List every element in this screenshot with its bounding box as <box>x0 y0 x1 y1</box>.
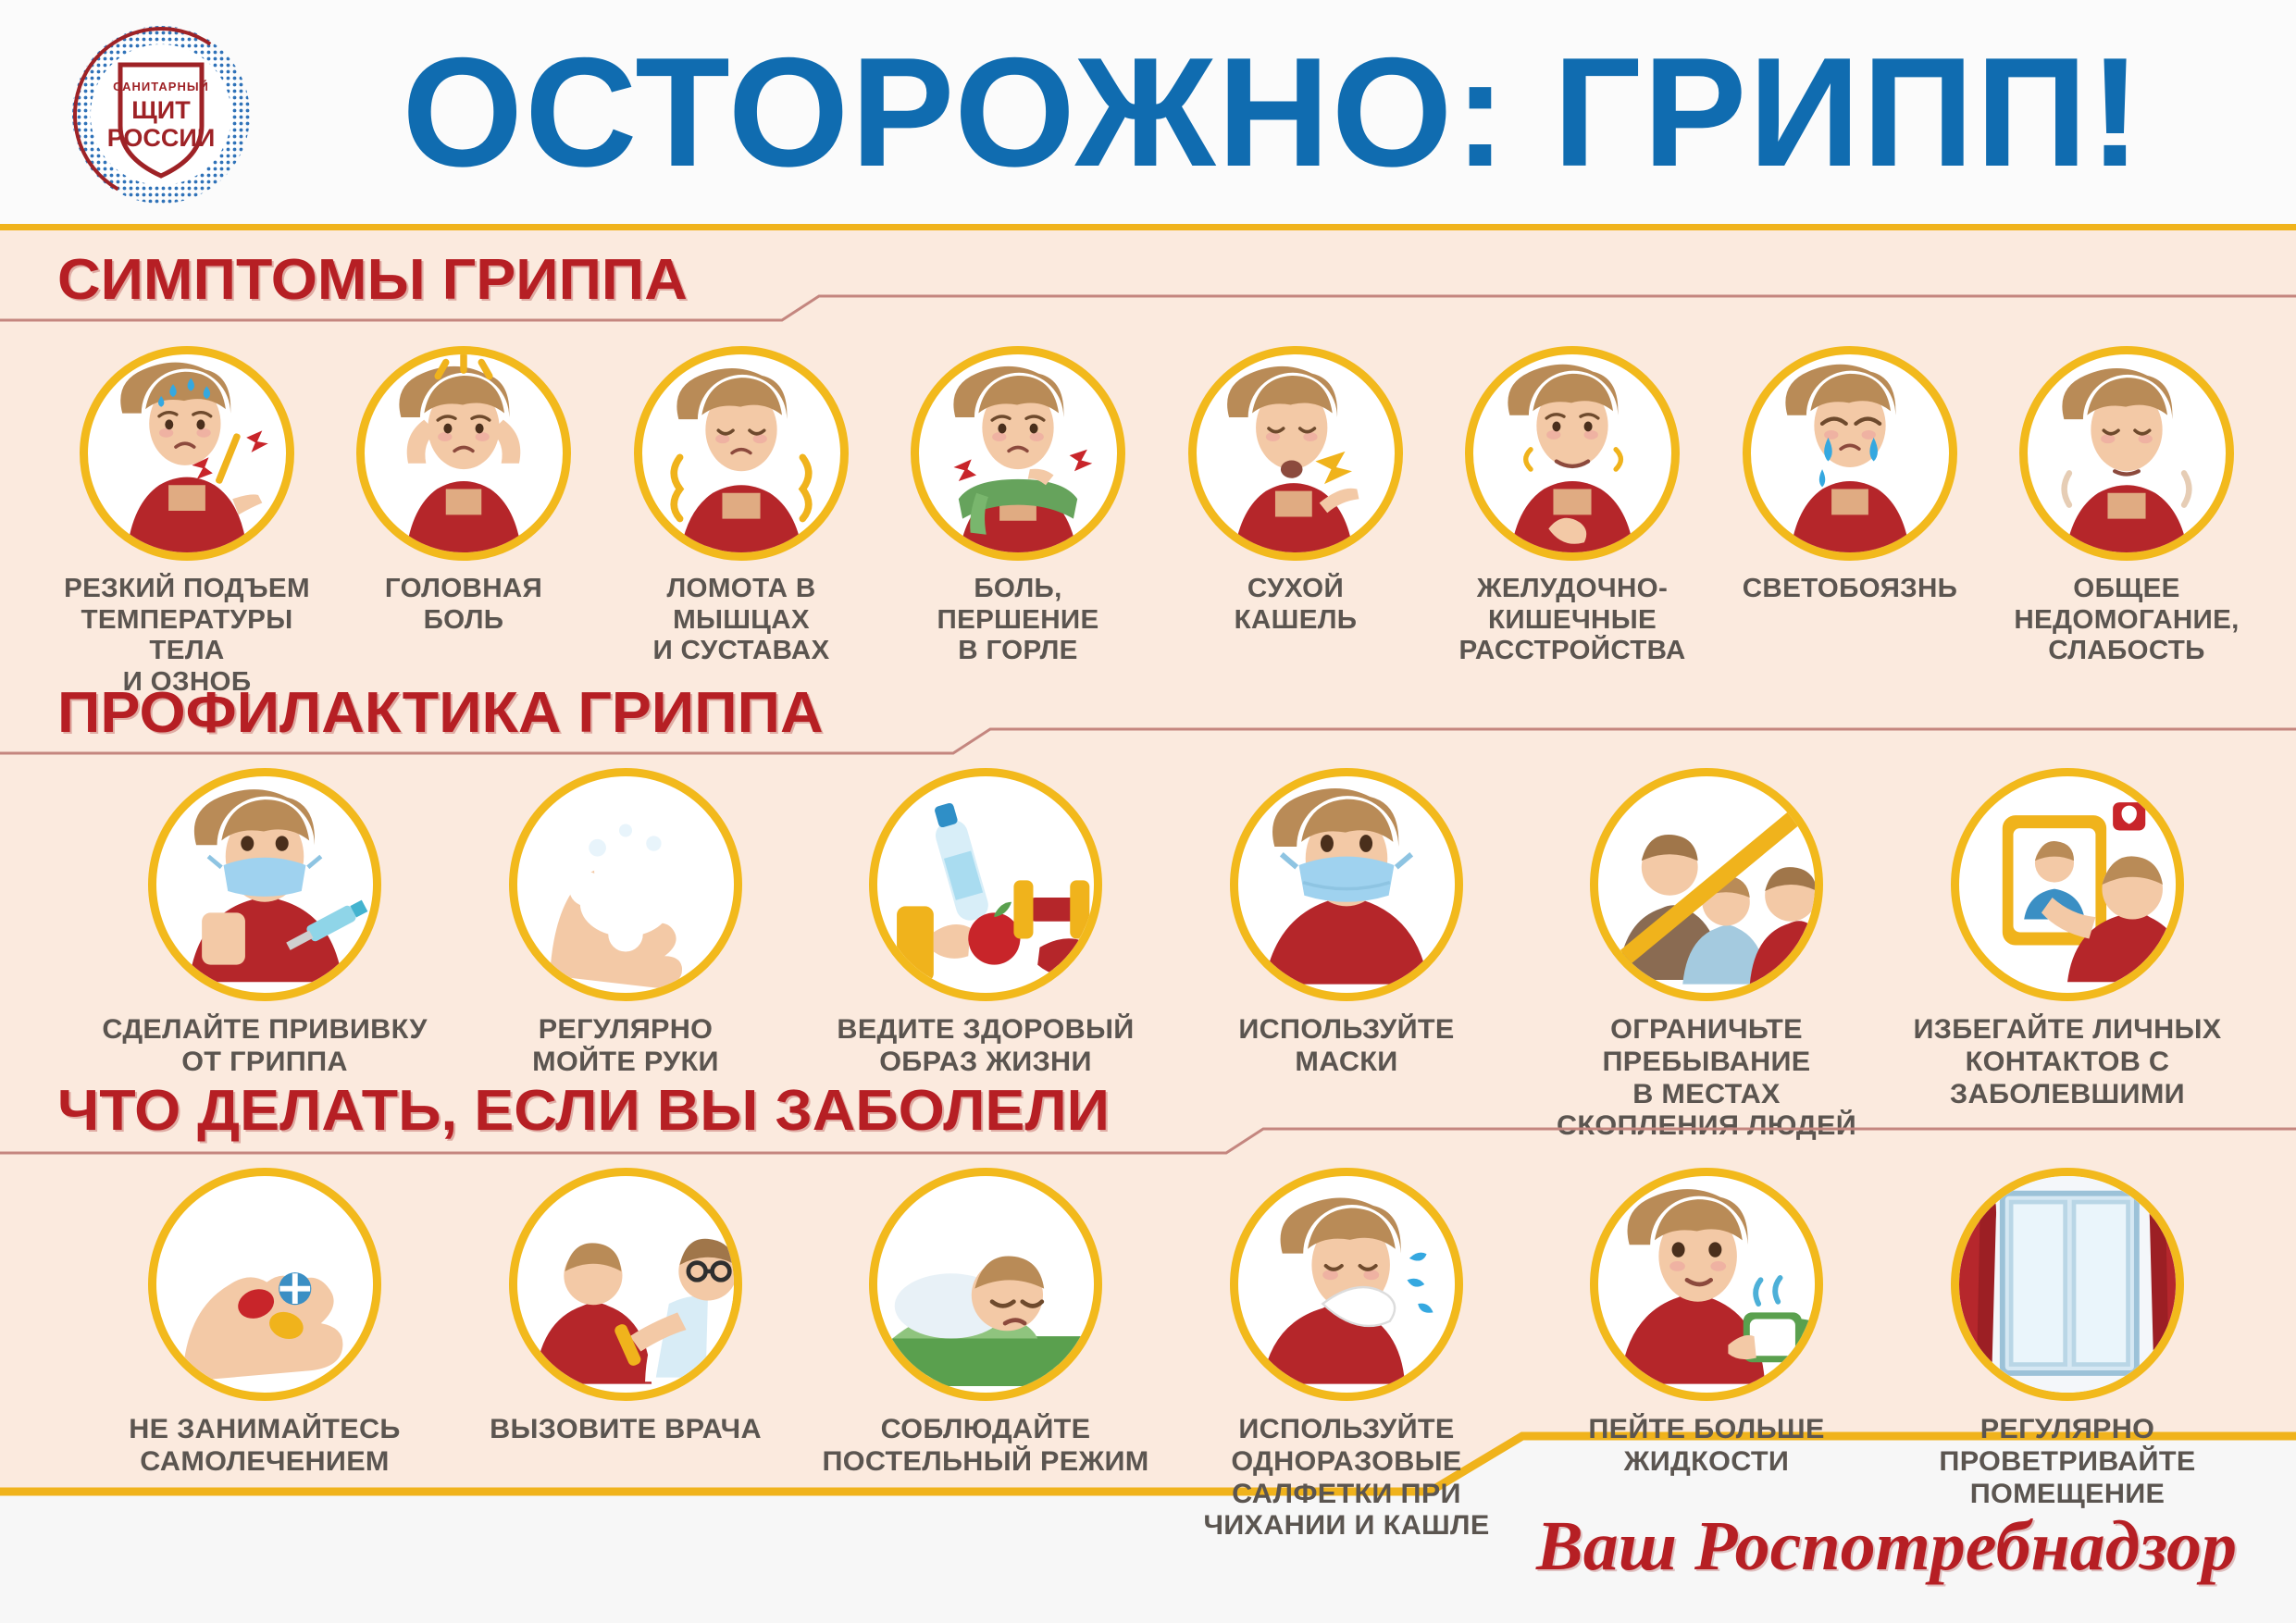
drink-fluids-icon <box>1590 1168 1823 1401</box>
info-card-label: ИСПОЛЬЗУЙТЕ МАСКИ <box>1180 1014 1512 1079</box>
info-card: ИСПОЛЬЗУЙТЕ ОДНОРАЗОВЫЕ САЛФЕТКИ ПРИ ЧИХ… <box>1184 1168 1509 1542</box>
avoid-contact-video-call-icon <box>1951 768 2184 1001</box>
info-card-label: ВЫЗОВИТЕ ВРАЧА <box>459 1414 791 1446</box>
sanitary-shield-of-russia-logo: САНИТАРНЫЙ ЩИТ РОССИИ <box>63 17 259 213</box>
info-card-label: ИСПОЛЬЗУЙТЕ ОДНОРАЗОВЫЕ САЛФЕТКИ ПРИ ЧИХ… <box>1180 1414 1512 1542</box>
wash-hands-icon <box>509 768 742 1001</box>
info-card: РЕЗКИЙ ПОДЪЕМ ТЕМПЕРАТУРЫ ТЕЛА И ОЗНОБ <box>56 346 318 699</box>
face-mask-icon <box>1230 768 1463 1001</box>
if-sick-row: НЕ ЗАНИМАЙТЕСЬ САМОЛЕЧЕНИЕМ ВЫЗОВИТЕ ВРА… <box>102 1168 2230 1542</box>
poster-header: САНИТАРНЫЙ ЩИТ РОССИИ ОСТОРОЖНО: ГРИПП! <box>0 0 2296 224</box>
section-heading-if-sick: ЧТО ДЕЛАТЬ, ЕСЛИ ВЫ ЗАБОЛЕЛИ <box>57 1073 2241 1140</box>
fever-chills-thermometer-icon <box>80 346 294 561</box>
logo-line-2: ЩИТ <box>131 96 191 124</box>
section-heading-prevention: ПРОФИЛАКТИКА ГРИППА <box>57 675 2241 742</box>
stomach-upset-icon <box>1465 346 1680 561</box>
info-card-label: ЛОМОТА В МЫШЦАХ И СУСТАВАХ <box>607 574 875 667</box>
info-card-label: ЖЕЛУДОЧНО- КИШЕЧНЫЕ РАССТРОЙСТВА <box>1438 574 1706 667</box>
info-card: СОБЛЮДАЙТЕ ПОСТЕЛЬНЫЙ РЕЖИМ <box>823 1168 1148 1542</box>
ventilate-room-icon <box>1951 1168 2184 1401</box>
section-title-symptoms: СИМПТОМЫ ГРИППА <box>57 247 688 313</box>
photophobia-icon <box>1743 346 1957 561</box>
section-title-if-sick: ЧТО ДЕЛАТЬ, ЕСЛИ ВЫ ЗАБОЛЕЛИ <box>57 1078 1110 1144</box>
info-card-label: РЕГУЛЯРНО ПРОВЕТРИВАЙТЕ ПОМЕЩЕНИЕ <box>1901 1414 2233 1510</box>
info-card-label: ОБЩЕЕ НЕДОМОГАНИЕ, СЛАБОСТЬ <box>1992 574 2261 667</box>
logo-line-1: САНИТАРНЫЙ <box>113 80 209 93</box>
section-title-prevention: ПРОФИЛАКТИКА ГРИППА <box>57 680 824 746</box>
info-card-label: НЕ ЗАНИМАЙТЕСЬ САМОЛЕЧЕНИЕМ <box>98 1414 430 1479</box>
section-heading-symptoms: СИМПТОМЫ ГРИППА <box>57 242 2241 309</box>
logo-line-3: РОССИИ <box>107 124 215 152</box>
info-card-label: ПЕЙТЕ БОЛЬШЕ ЖИДКОСТИ <box>1541 1414 1873 1479</box>
info-card-label: ГОЛОВНАЯ БОЛЬ <box>330 574 599 636</box>
info-card: ОБЩЕЕ НЕДОМОГАНИЕ, СЛАБОСТЬ <box>1995 346 2258 699</box>
info-card: ГОЛОВНАЯ БОЛЬ <box>332 346 595 699</box>
footer-rospotrebnadzor: Ваш Роспотребнадзор <box>1536 1506 2237 1587</box>
info-card: ЛОМОТА В МЫШЦАХ И СУСТАВАХ <box>610 346 873 699</box>
info-card-label: СДЕЛАЙТЕ ПРИВИВКУ ОТ ГРИППА <box>98 1014 430 1079</box>
info-card-label: ВЕДИТЕ ЗДОРОВЫЙ ОБРАЗ ЖИЗНИ <box>820 1014 1152 1079</box>
muscle-joint-ache-icon <box>634 346 849 561</box>
info-card-label: БОЛЬ, ПЕРШЕНИЕ В ГОРЛЕ <box>884 574 1152 667</box>
info-card-label: РЕГУЛЯРНО МОЙТЕ РУКИ <box>459 1014 791 1079</box>
symptoms-row: РЕЗКИЙ ПОДЪЕМ ТЕМПЕРАТУРЫ ТЕЛА И ОЗНОБ Г… <box>56 346 2258 699</box>
gold-divider-top <box>0 224 2296 230</box>
avoid-crowds-icon <box>1590 768 1823 1001</box>
poster-root: САНИТАРНЫЙ ЩИТ РОССИИ ОСТОРОЖНО: ГРИПП! … <box>0 0 2296 1623</box>
vaccination-icon <box>148 768 381 1001</box>
no-self-medication-pills-icon <box>148 1168 381 1401</box>
info-card-label: СВЕТОБОЯЗНЬ <box>1716 574 1984 605</box>
info-card: НЕ ЗАНИМАЙТЕСЬ САМОЛЕЧЕНИЕМ <box>102 1168 428 1542</box>
sore-throat-icon <box>911 346 1125 561</box>
info-card: СУХОЙ КАШЕЛЬ <box>1164 346 1427 699</box>
info-card: ВЫЗОВИТЕ ВРАЧА <box>463 1168 788 1542</box>
headache-icon <box>356 346 571 561</box>
call-doctor-icon <box>509 1168 742 1401</box>
healthy-lifestyle-icon <box>869 768 1102 1001</box>
general-weakness-icon <box>2019 346 2234 561</box>
info-card: СВЕТОБОЯЗНЬ <box>1719 346 1981 699</box>
info-card-label: СОБЛЮДАЙТЕ ПОСТЕЛЬНЫЙ РЕЖИМ <box>820 1414 1152 1479</box>
info-card: ПЕЙТЕ БОЛЬШЕ ЖИДКОСТИ <box>1544 1168 1869 1542</box>
dry-cough-icon <box>1188 346 1403 561</box>
info-card: РЕГУЛЯРНО ПРОВЕТРИВАЙТЕ ПОМЕЩЕНИЕ <box>1905 1168 2230 1542</box>
info-card: БОЛЬ, ПЕРШЕНИЕ В ГОРЛЕ <box>887 346 1149 699</box>
bed-rest-icon <box>869 1168 1102 1401</box>
use-tissues-icon <box>1230 1168 1463 1401</box>
page-title: ОСТОРОЖНО: ГРИПП! <box>278 9 2267 215</box>
info-card-label: СУХОЙ КАШЕЛЬ <box>1161 574 1430 636</box>
info-card: ЖЕЛУДОЧНО- КИШЕЧНЫЕ РАССТРОЙСТВА <box>1441 346 1704 699</box>
